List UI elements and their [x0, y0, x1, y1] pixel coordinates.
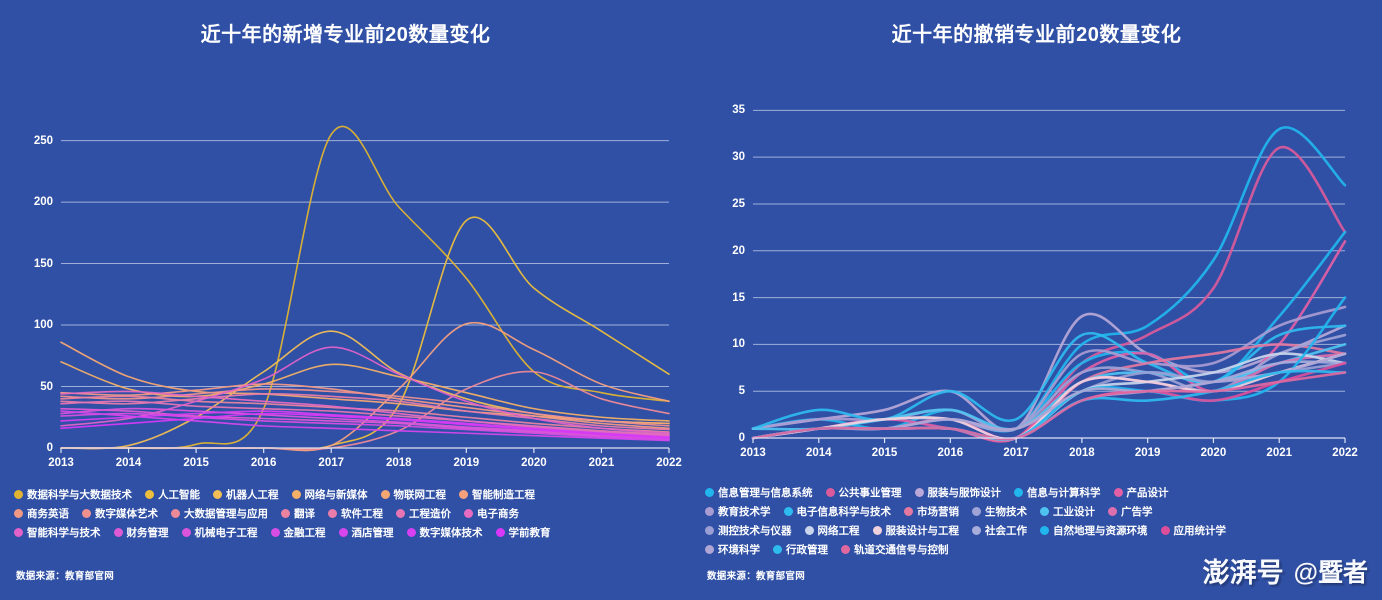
legend-item-label: 公共事业管理	[839, 485, 902, 500]
legend-row: 智能科学与技术财务管理机械电子工程金融工程酒店管理数字媒体技术学前教育	[14, 525, 683, 540]
y-axis-tick-label: 100	[34, 319, 53, 331]
left-source-note: 数据来源：教育部官网	[16, 568, 114, 582]
x-axis-tick-label: 2020	[521, 457, 547, 469]
legend-swatch-icon	[292, 490, 301, 499]
legend-item[interactable]: 数据科学与大数据技术	[14, 487, 132, 502]
legend-item[interactable]: 网络工程	[805, 523, 860, 538]
x-axis-tick-label: 2013	[48, 457, 74, 469]
legend-item-label: 电子信息科学与技术	[797, 504, 892, 519]
legend-swatch-icon	[784, 507, 793, 516]
legend-item[interactable]: 机器人工程	[213, 487, 279, 502]
x-axis-tick-label: 2018	[386, 457, 412, 469]
legend-item-label: 智能科学与技术	[27, 525, 101, 540]
x-axis-tick-label: 2017	[1003, 447, 1029, 459]
legend-swatch-icon	[1040, 526, 1049, 535]
legend-item-label: 产品设计	[1127, 485, 1169, 500]
legend-item[interactable]: 商务英语	[14, 506, 69, 521]
y-axis-tick-label: 15	[732, 292, 745, 304]
legend-swatch-icon	[381, 490, 390, 499]
x-axis-tick-label: 2013	[740, 447, 766, 459]
legend-item[interactable]: 财务管理	[114, 525, 169, 540]
legend-swatch-icon	[773, 545, 782, 554]
legend-swatch-icon	[826, 488, 835, 497]
left-chart-title: 近十年的新增专业前20数量变化	[0, 18, 691, 47]
y-axis-tick-label: 150	[34, 258, 53, 270]
legend-item[interactable]: 社会工作	[972, 523, 1027, 538]
x-axis-tick-label: 2015	[183, 457, 209, 469]
legend-swatch-icon	[1014, 488, 1023, 497]
legend-swatch-icon	[841, 545, 850, 554]
legend-item-label: 财务管理	[127, 525, 169, 540]
legend-swatch-icon	[805, 526, 814, 535]
legend-item[interactable]: 数字媒体技术	[407, 525, 483, 540]
legend-item-label: 物联网工程	[394, 487, 447, 502]
x-axis-tick-label: 2016	[938, 447, 964, 459]
legend-item[interactable]: 应用统计学	[1161, 523, 1227, 538]
legend-swatch-icon	[915, 488, 924, 497]
legend-swatch-icon	[281, 509, 290, 518]
legend-swatch-icon	[182, 528, 191, 537]
legend-swatch-icon	[1040, 507, 1049, 516]
legend-item-label: 电子商务	[477, 506, 519, 521]
legend-item[interactable]: 智能制造工程	[459, 487, 535, 502]
right-legend: 信息管理与信息系统公共事业管理服装与服饰设计信息与计算科学产品设计教育技术学电子…	[705, 485, 1374, 561]
legend-swatch-icon	[396, 509, 405, 518]
legend-swatch-icon	[339, 528, 348, 537]
legend-row: 测控技术与仪器网络工程服装设计与工程社会工作自然地理与资源环境应用统计学	[705, 523, 1374, 538]
legend-swatch-icon	[705, 526, 714, 535]
legend-item-label: 工业设计	[1053, 504, 1095, 519]
legend-item-label: 学前教育	[509, 525, 551, 540]
legend-item[interactable]: 工程造价	[396, 506, 451, 521]
left-plot-area: 0501001502002502013201420152016201720182…	[55, 110, 675, 470]
x-axis-tick-label: 2014	[116, 457, 142, 469]
legend-swatch-icon	[705, 488, 714, 497]
x-axis-tick-label: 2022	[656, 457, 682, 469]
legend-item[interactable]: 数字媒体艺术	[82, 506, 158, 521]
chart-svg	[731, 95, 1351, 460]
x-axis-tick-label: 2021	[589, 457, 615, 469]
x-axis-tick-label: 2020	[1201, 447, 1227, 459]
legend-item-label: 信息与计算科学	[1027, 485, 1101, 500]
legend-item[interactable]: 服装设计与工程	[873, 523, 960, 538]
y-axis-tick-label: 25	[732, 198, 745, 210]
legend-swatch-icon	[1161, 526, 1170, 535]
chart-svg	[55, 110, 675, 470]
legend-row: 教育技术学电子信息科学与技术市场营销生物技术工业设计广告学	[705, 504, 1374, 519]
legend-item[interactable]: 电子商务	[464, 506, 519, 521]
legend-item-label: 软件工程	[341, 506, 383, 521]
x-axis-tick-label: 2014	[806, 447, 832, 459]
right-plot-area: 0510152025303520132014201520162017201820…	[731, 95, 1351, 460]
legend-item[interactable]: 网络与新媒体	[292, 487, 368, 502]
legend-item[interactable]: 物联网工程	[381, 487, 447, 502]
legend-swatch-icon	[972, 507, 981, 516]
legend-swatch-icon	[705, 507, 714, 516]
legend-swatch-icon	[904, 507, 913, 516]
legend-item-label: 翻译	[294, 506, 315, 521]
legend-item-label: 网络工程	[818, 523, 860, 538]
legend-item[interactable]: 学前教育	[496, 525, 551, 540]
legend-item-label: 数据科学与大数据技术	[27, 487, 132, 502]
legend-item-label: 人工智能	[158, 487, 200, 502]
legend-swatch-icon	[171, 509, 180, 518]
legend-item-label: 应用统计学	[1174, 523, 1227, 538]
legend-swatch-icon	[271, 528, 280, 537]
y-axis-tick-label: 50	[40, 381, 53, 393]
y-axis-tick-label: 0	[47, 442, 53, 454]
legend-item[interactable]: 生物技术	[972, 504, 1027, 519]
y-axis-tick-label: 10	[732, 338, 745, 350]
legend-swatch-icon	[114, 528, 123, 537]
legend-item[interactable]: 信息与计算科学	[1014, 485, 1101, 500]
x-axis-tick-label: 2015	[872, 447, 898, 459]
legend-swatch-icon	[407, 528, 416, 537]
legend-swatch-icon	[705, 545, 714, 554]
legend-item[interactable]: 电子信息科学与技术	[784, 504, 892, 519]
legend-item[interactable]: 工业设计	[1040, 504, 1095, 519]
legend-swatch-icon	[873, 526, 882, 535]
legend-item[interactable]: 教育技术学	[705, 504, 771, 519]
legend-item[interactable]: 人工智能	[145, 487, 200, 502]
legend-item-label: 商务英语	[27, 506, 69, 521]
legend-item-label: 大数据管理与应用	[184, 506, 268, 521]
legend-item[interactable]: 产品设计	[1114, 485, 1169, 500]
series-line	[61, 126, 669, 448]
x-axis-tick-label: 2022	[1332, 447, 1358, 459]
legend-swatch-icon	[14, 490, 23, 499]
legend-item-label: 市场营销	[917, 504, 959, 519]
y-axis-tick-label: 35	[732, 104, 745, 116]
watermark-brand: 澎湃号	[1203, 551, 1284, 590]
x-axis-tick-label: 2016	[251, 457, 277, 469]
legend-item[interactable]: 轨道交通信号与控制	[841, 542, 949, 557]
x-axis-tick-label: 2017	[318, 457, 344, 469]
legend-item[interactable]: 智能科学与技术	[14, 525, 101, 540]
legend-swatch-icon	[464, 509, 473, 518]
legend-row: 数据科学与大数据技术人工智能机器人工程网络与新媒体物联网工程智能制造工程	[14, 487, 683, 502]
legend-swatch-icon	[496, 528, 505, 537]
y-axis-tick-label: 250	[34, 135, 53, 147]
left-chart-panel: 近十年的新增专业前20数量变化 050100150200250201320142…	[0, 0, 691, 600]
legend-item[interactable]: 金融工程	[271, 525, 326, 540]
legend-item[interactable]: 酒店管理	[339, 525, 394, 540]
legend-swatch-icon	[459, 490, 468, 499]
legend-swatch-icon	[213, 490, 222, 499]
legend-row: 信息管理与信息系统公共事业管理服装与服饰设计信息与计算科学产品设计	[705, 485, 1374, 500]
legend-item-label: 数字媒体技术	[420, 525, 483, 540]
legend-item-label: 机器人工程	[226, 487, 279, 502]
right-chart-title: 近十年的撤销专业前20数量变化	[691, 18, 1382, 47]
legend-item-label: 生物技术	[985, 504, 1027, 519]
legend-item-label: 测控技术与仪器	[718, 523, 792, 538]
legend-item-label: 服装设计与工程	[886, 523, 960, 538]
y-axis-tick-label: 200	[34, 196, 53, 208]
y-axis-tick-label: 0	[739, 432, 745, 444]
legend-item-label: 行政管理	[786, 542, 828, 557]
legend-item-label: 教育技术学	[718, 504, 771, 519]
legend-item-label: 金融工程	[284, 525, 326, 540]
legend-swatch-icon	[145, 490, 154, 499]
legend-item-label: 服装与服饰设计	[928, 485, 1002, 500]
infographic-root: 近十年的新增专业前20数量变化 050100150200250201320142…	[0, 0, 1382, 600]
legend-item[interactable]: 广告学	[1108, 504, 1153, 519]
legend-item[interactable]: 机械电子工程	[182, 525, 258, 540]
legend-item[interactable]: 翻译	[281, 506, 315, 521]
legend-swatch-icon	[1114, 488, 1123, 497]
legend-item[interactable]: 测控技术与仪器	[705, 523, 792, 538]
legend-item-label: 自然地理与资源环境	[1053, 523, 1148, 538]
x-axis-tick-label: 2018	[1069, 447, 1095, 459]
legend-item[interactable]: 软件工程	[328, 506, 383, 521]
x-axis-tick-label: 2019	[1135, 447, 1161, 459]
legend-item[interactable]: 环境科学	[705, 542, 760, 557]
legend-item-label: 智能制造工程	[472, 487, 535, 502]
legend-row: 商务英语数字媒体艺术大数据管理与应用翻译软件工程工程造价电子商务	[14, 506, 683, 521]
legend-swatch-icon	[972, 526, 981, 535]
legend-item[interactable]: 大数据管理与应用	[171, 506, 268, 521]
legend-swatch-icon	[14, 528, 23, 537]
legend-item-label: 广告学	[1121, 504, 1153, 519]
legend-swatch-icon	[82, 509, 91, 518]
legend-swatch-icon	[14, 509, 23, 518]
x-axis-tick-label: 2021	[1266, 447, 1292, 459]
y-axis-tick-label: 30	[732, 151, 745, 163]
legend-item-label: 机械电子工程	[195, 525, 258, 540]
watermark-handle: @暨者	[1294, 553, 1368, 589]
legend-item[interactable]: 自然地理与资源环境	[1040, 523, 1148, 538]
legend-item-label: 社会工作	[985, 523, 1027, 538]
legend-swatch-icon	[1108, 507, 1117, 516]
watermark: 澎湃号 @暨者	[1203, 551, 1368, 590]
x-axis-tick-label: 2019	[454, 457, 480, 469]
right-source-note: 数据来源：教育部官网	[707, 568, 805, 582]
y-axis-tick-label: 20	[732, 245, 745, 257]
legend-item-label: 环境科学	[718, 542, 760, 557]
legend-item[interactable]: 服装与服饰设计	[915, 485, 1002, 500]
legend-item[interactable]: 市场营销	[904, 504, 959, 519]
legend-item[interactable]: 信息管理与信息系统	[705, 485, 813, 500]
legend-item-label: 酒店管理	[352, 525, 394, 540]
legend-item[interactable]: 公共事业管理	[826, 485, 902, 500]
legend-item[interactable]: 行政管理	[773, 542, 828, 557]
legend-item-label: 信息管理与信息系统	[718, 485, 813, 500]
y-axis-tick-label: 5	[739, 385, 745, 397]
legend-item-label: 网络与新媒体	[305, 487, 368, 502]
left-legend: 数据科学与大数据技术人工智能机器人工程网络与新媒体物联网工程智能制造工程商务英语…	[14, 487, 683, 544]
series-line	[61, 342, 669, 423]
legend-item-label: 工程造价	[409, 506, 451, 521]
legend-item-label: 数字媒体艺术	[95, 506, 158, 521]
right-chart-panel: 近十年的撤销专业前20数量变化 051015202530352013201420…	[691, 0, 1382, 600]
legend-swatch-icon	[328, 509, 337, 518]
legend-item-label: 轨道交通信号与控制	[854, 542, 949, 557]
